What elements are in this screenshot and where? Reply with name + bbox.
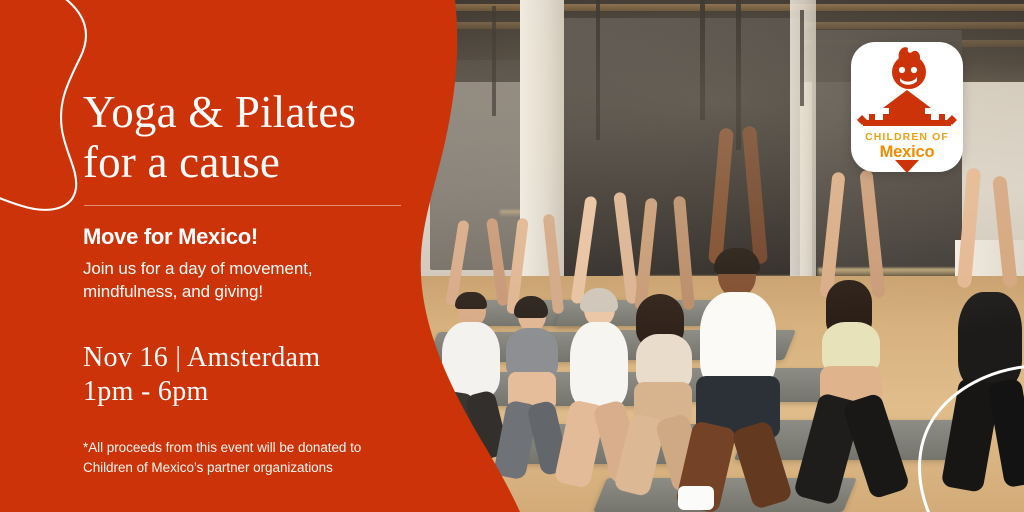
subheading: Move for Mexico!: [83, 224, 258, 250]
logo-text-bottom: Mexico: [880, 143, 935, 161]
disclaimer-line-2: Children of Mexico’s partner organizatio…: [83, 458, 413, 478]
divider: [84, 205, 401, 206]
description-line-1: Join us for a day of movement,: [83, 258, 393, 281]
disclaimer: *All proceeds from this event will be do…: [83, 438, 413, 477]
page-title: Yoga & Pilates for a cause: [83, 88, 423, 188]
headline-line-2: for a cause: [83, 138, 423, 188]
suspension-strap: [800, 10, 804, 106]
description: Join us for a day of movement, mindfulne…: [83, 258, 393, 304]
description-line-2: mindfulness, and giving!: [83, 281, 393, 304]
suspension-strap: [736, 0, 741, 150]
triangle-icon: [895, 160, 919, 172]
headline-line-1: Yoga & Pilates: [83, 88, 423, 138]
disclaimer-line-1: *All proceeds from this event will be do…: [83, 438, 413, 458]
pyramid-icon: [857, 90, 957, 126]
promotional-banner: Yoga & Pilates for a cause Move for Mexi…: [0, 0, 1024, 512]
logo-badge: CHILDREN OF Mexico: [851, 42, 963, 172]
event-time: 1pm - 6pm: [83, 375, 413, 409]
suspension-strap: [700, 0, 705, 120]
copy-block: Yoga & Pilates for a cause Move for Mexi…: [83, 0, 423, 512]
event-date-location: Nov 16 | Amsterdam: [83, 341, 413, 375]
event-details: Nov 16 | Amsterdam 1pm - 6pm: [83, 341, 413, 409]
logo-text-top: CHILDREN OF: [865, 131, 949, 143]
suspension-strap: [596, 0, 600, 140]
